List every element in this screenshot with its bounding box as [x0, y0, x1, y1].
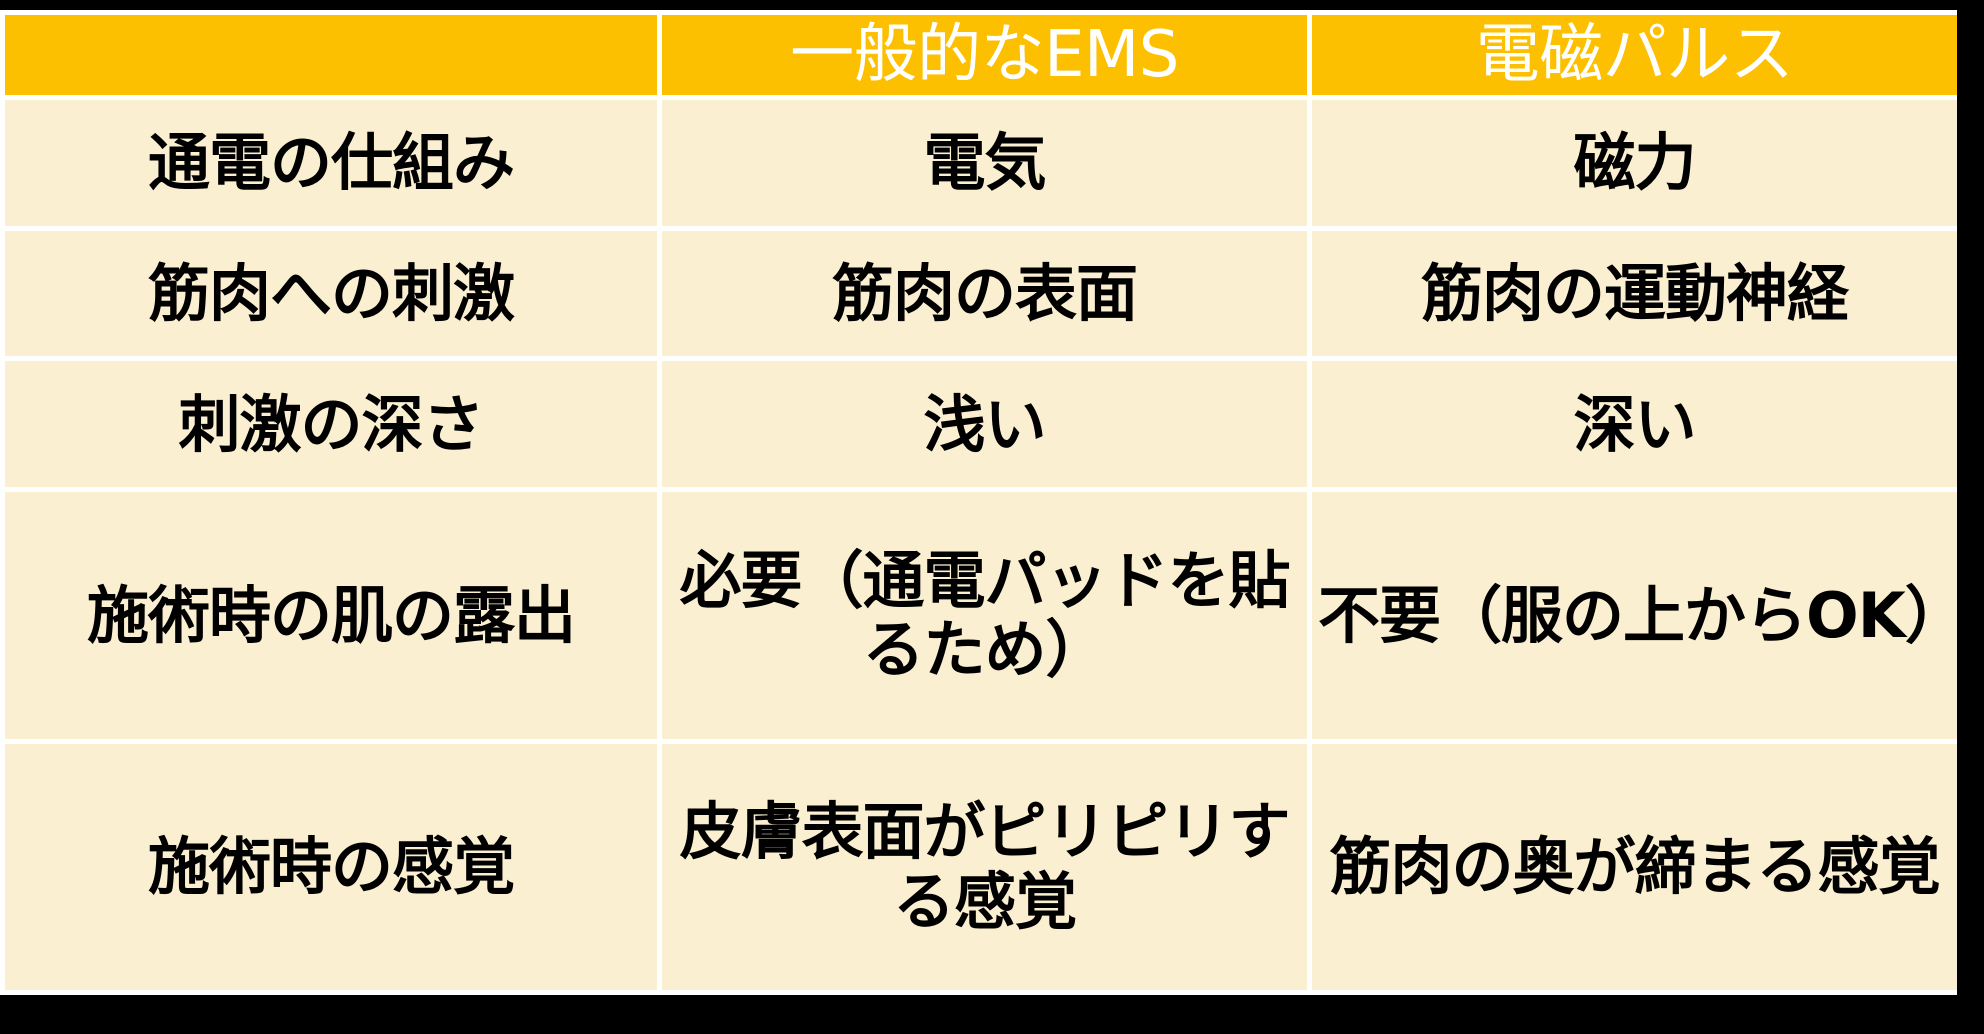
row-label-skin-exposure: 施術時の肌の露出 — [5, 492, 657, 738]
cell-stimulation-depth-pulse: 深い — [1312, 361, 1957, 487]
comparison-table-container: 一般的なEMS 電磁パルス 通電の仕組み 電気 磁力 筋肉への刺激 筋肉の表面 … — [0, 10, 1957, 995]
table-row: 通電の仕組み 電気 磁力 — [5, 100, 1957, 226]
row-label-treatment-sensation: 施術時の感覚 — [5, 744, 657, 990]
table-body: 通電の仕組み 電気 磁力 筋肉への刺激 筋肉の表面 筋肉の運動神経 刺激の深さ … — [5, 100, 1957, 990]
cell-stimulation-depth-ems: 浅い — [662, 361, 1307, 487]
cell-skin-exposure-ems: 必要（通電パッドを貼るため） — [662, 492, 1307, 738]
top-black-border — [0, 0, 1984, 10]
row-label-conduction-mechanism: 通電の仕組み — [5, 100, 657, 226]
header-corner-blank — [5, 15, 657, 95]
cell-treatment-sensation-pulse: 筋肉の奥が締まる感覚 — [1312, 744, 1957, 990]
cell-muscle-stimulation-ems: 筋肉の表面 — [662, 231, 1307, 357]
header-general-ems: 一般的なEMS — [662, 15, 1307, 95]
comparison-table: 一般的なEMS 電磁パルス 通電の仕組み 電気 磁力 筋肉への刺激 筋肉の表面 … — [0, 10, 1962, 995]
cell-conduction-mechanism-ems: 電気 — [662, 100, 1307, 226]
cell-treatment-sensation-ems: 皮膚表面がピリピリする感覚 — [662, 744, 1307, 990]
table-header-row: 一般的なEMS 電磁パルス — [5, 15, 1957, 95]
right-black-border — [1957, 0, 1984, 1034]
table-header: 一般的なEMS 電磁パルス — [5, 15, 1957, 95]
cell-conduction-mechanism-pulse: 磁力 — [1312, 100, 1957, 226]
table-row: 筋肉への刺激 筋肉の表面 筋肉の運動神経 — [5, 231, 1957, 357]
table-row: 刺激の深さ 浅い 深い — [5, 361, 1957, 487]
row-label-muscle-stimulation: 筋肉への刺激 — [5, 231, 657, 357]
table-row: 施術時の肌の露出 必要（通電パッドを貼るため） 不要（服の上からOK） — [5, 492, 1957, 738]
cell-muscle-stimulation-pulse: 筋肉の運動神経 — [1312, 231, 1957, 357]
header-electromagnetic-pulse: 電磁パルス — [1312, 15, 1957, 95]
cell-skin-exposure-pulse: 不要（服の上からOK） — [1312, 492, 1957, 738]
table-row: 施術時の感覚 皮膚表面がピリピリする感覚 筋肉の奥が締まる感覚 — [5, 744, 1957, 990]
row-label-stimulation-depth: 刺激の深さ — [5, 361, 657, 487]
bottom-black-border — [0, 995, 1984, 1034]
screenshot-root: 一般的なEMS 電磁パルス 通電の仕組み 電気 磁力 筋肉への刺激 筋肉の表面 … — [0, 0, 1984, 1034]
